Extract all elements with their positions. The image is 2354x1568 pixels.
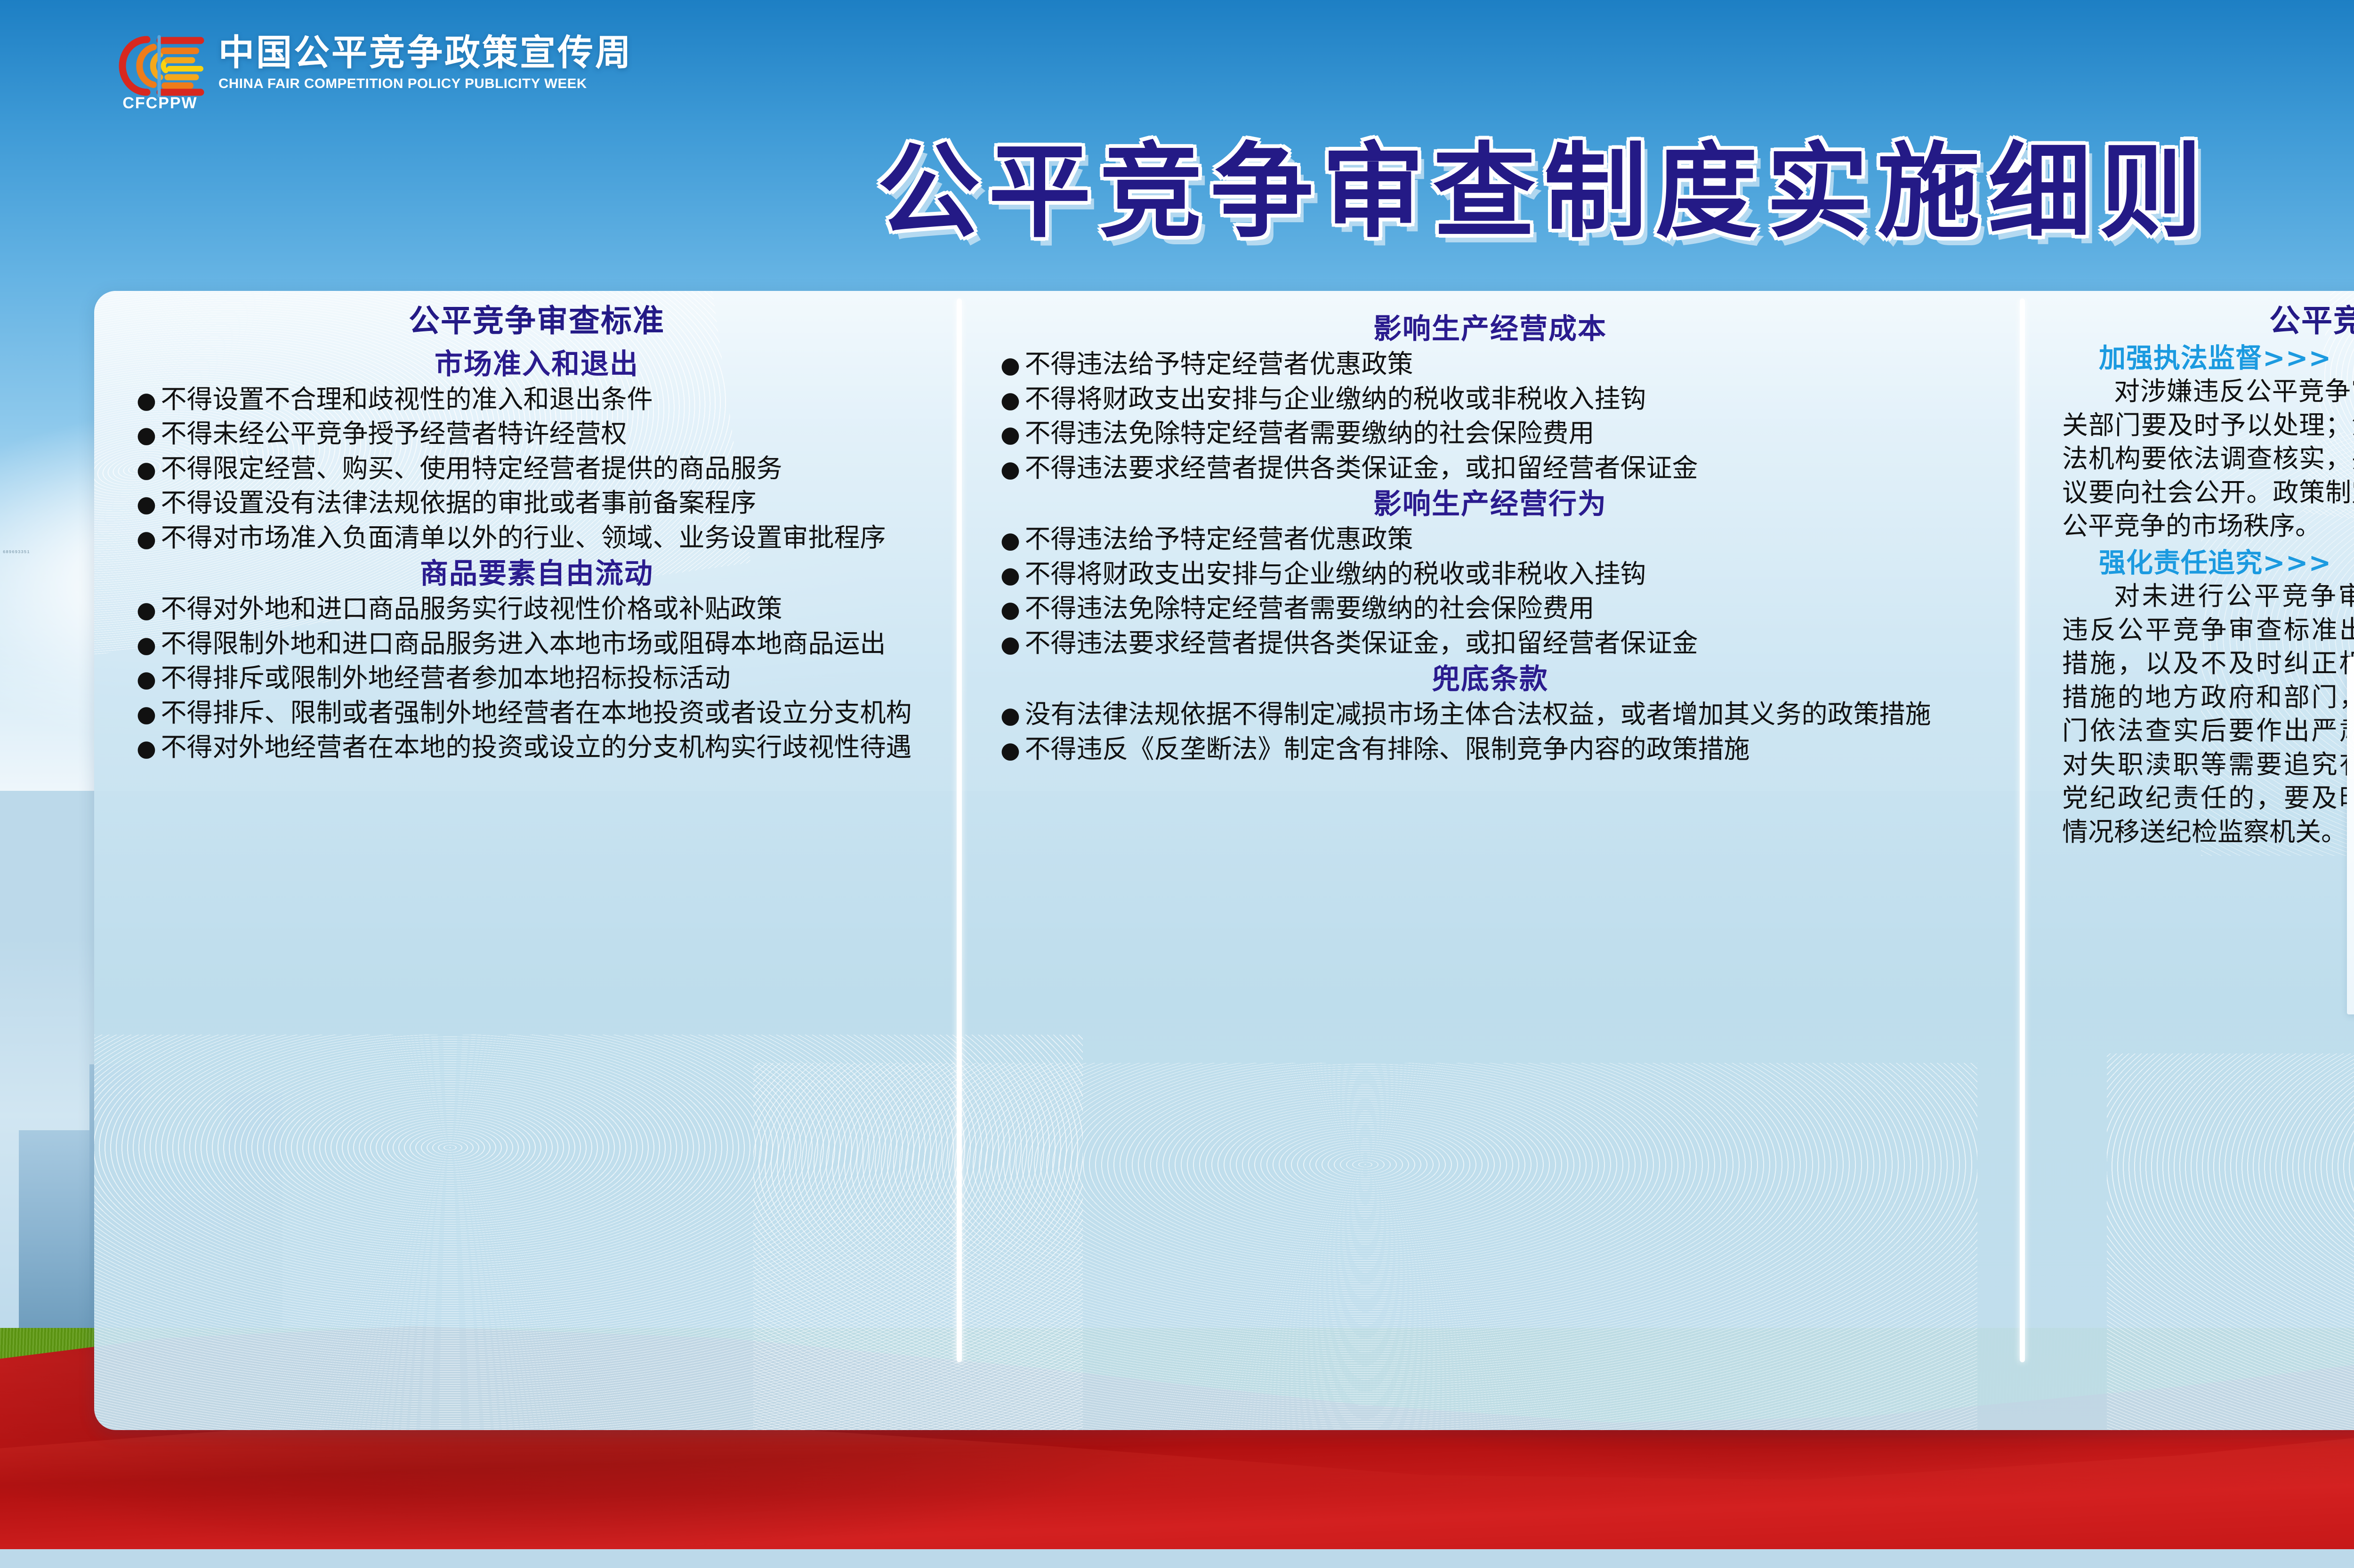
bullet-list-market-entry: 不得设置不合理和歧视性的准入和退出条件 不得未经公平竞争授予经营者特许经营权 不… bbox=[137, 383, 937, 555]
list-item: 不得对市场准入负面清单以外的行业、领域、业务设置审批程序 bbox=[137, 521, 937, 555]
logo-abbreviation: CFCPPW bbox=[113, 94, 207, 113]
list-item: 不得排斥、限制或者强制外地经营者在本地投资或者设立分支机构 bbox=[137, 696, 937, 730]
paragraph-accountability: 对未进行公平竞争审查或者违反公平竞争审查标准出台政策措施，以及不及时纠正相关政策… bbox=[2062, 579, 2354, 849]
section-heading-market-entry: 市场准入和退出 bbox=[137, 349, 937, 380]
list-item: 不得设置没有法律法规依据的审批或者事前备案程序 bbox=[137, 486, 937, 520]
column-divider bbox=[957, 298, 962, 1362]
page-title: 公平竞争审查制度实施细则 bbox=[0, 141, 2354, 244]
brand-lockup: CFCPPW 中国公平竞争政策宣传周 CHINA FAIR COMPETITIO… bbox=[113, 33, 633, 118]
wave-texture bbox=[753, 1063, 1977, 1430]
list-item: 不得违法免除特定经营者需要缴纳的社会保险费用 bbox=[1000, 592, 1980, 626]
column-divider bbox=[2020, 298, 2025, 1362]
section-heading-production-behaviour: 影响生产经营行为 bbox=[1000, 489, 1980, 520]
column-safeguards: 公平竞争审查制度实施的保障措施 加强执法监督>>> 对涉嫌违反公平竞争审查标准的… bbox=[2062, 291, 2354, 851]
section-heading-production-cost: 影响生产经营成本 bbox=[1000, 314, 1980, 345]
micro-code-text: 689693351 bbox=[3, 550, 30, 555]
subhead-accountability: 强化责任追究>>> bbox=[2099, 548, 2354, 579]
column-title-left: 公平竞争审查标准 bbox=[137, 304, 937, 338]
column-review-standards: 公平竞争审查标准 市场准入和退出 不得设置不合理和歧视性的准入和退出条件 不得未… bbox=[137, 291, 937, 765]
building bbox=[19, 1130, 89, 1328]
poster-header: CFCPPW 中国公平竞争政策宣传周 CHINA FAIR COMPETITIO… bbox=[0, 0, 2354, 264]
column-cost-behaviour: 影响生产经营成本 不得违法给予特定经营者优惠政策 不得将财政支出安排与企业缴纳的… bbox=[1000, 291, 1980, 767]
bullet-list-production-cost: 不得违法给予特定经营者优惠政策 不得将财政支出安排与企业缴纳的税收或非税收入挂钩… bbox=[1000, 347, 1980, 485]
list-item: 不得未经公平竞争授予经营者特许经营权 bbox=[137, 417, 937, 451]
paragraph-enforcement-supervision: 对涉嫌违反公平竞争审查标准的政策措施，任何单位和个人有权举报，有关部门要及时予以… bbox=[2062, 375, 2354, 543]
wave-texture bbox=[2107, 1053, 2354, 1430]
cfcppw-arc-logo-icon: CFCPPW bbox=[113, 33, 207, 118]
content-panel: 公平竞争审查标准 市场准入和退出 不得设置不合理和歧视性的准入和退出条件 不得未… bbox=[94, 291, 2354, 1430]
subhead-enforcement-supervision: 加强执法监督>>> bbox=[2099, 343, 2354, 374]
brand-name-cn: 中国公平竞争政策宣传周 bbox=[218, 35, 633, 71]
brand-text: 中国公平竞争政策宣传周 CHINA FAIR COMPETITION POLIC… bbox=[218, 33, 633, 92]
list-item: 不得将财政支出安排与企业缴纳的税收或非税收入挂钩 bbox=[1000, 557, 1980, 591]
list-item: 不得违法给予特定经营者优惠政策 bbox=[1000, 347, 1980, 381]
section-heading-catchall: 兜底条款 bbox=[1000, 664, 1980, 695]
list-item: 不得违法要求经营者提供各类保证金，或扣留经营者保证金 bbox=[1000, 451, 1980, 485]
list-item: 不得违法给予特定经营者优惠政策 bbox=[1000, 523, 1980, 556]
list-item: 不得违反《反垄断法》制定含有排除、限制竞争内容的政策措施 bbox=[1000, 732, 1980, 766]
list-item: 不得对外地经营者在本地的投资或设立的分支机构实行歧视性待遇 bbox=[137, 731, 937, 764]
list-item: 不得限制外地和进口商品服务进入本地市场或阻碍本地商品运出 bbox=[137, 627, 937, 661]
list-item: 没有法律法规依据不得制定减损市场主体合法权益，或者增加其义务的政策措施 bbox=[1000, 698, 1980, 732]
bullet-list-catchall: 没有法律法规依据不得制定减损市场主体合法权益，或者增加其义务的政策措施 不得违反… bbox=[1000, 698, 1980, 766]
reporting-flowchart: 政策制定机关涉嫌未进行公平竞争审查或者违反审查标准出台政策措施的，任何单位和个人… bbox=[2347, 657, 2354, 1014]
list-item: 不得限定经营、购买、使用特定经营者提供的商品服务 bbox=[137, 452, 937, 486]
section-heading-free-flow: 商品要素自由流动 bbox=[137, 558, 937, 589]
list-item: 不得违法要求经营者提供各类保证金，或扣留经营者保证金 bbox=[1000, 627, 1980, 660]
bullet-list-production-behaviour: 不得违法给予特定经营者优惠政策 不得将财政支出安排与企业缴纳的税收或非税收入挂钩… bbox=[1000, 523, 1980, 660]
list-item: 不得设置不合理和歧视性的准入和退出条件 bbox=[137, 383, 937, 417]
list-item: 不得排斥或限制外地经营者参加本地招标投标活动 bbox=[137, 661, 937, 695]
list-item: 不得将财政支出安排与企业缴纳的税收或非税收入挂钩 bbox=[1000, 382, 1980, 416]
column-title-right: 公平竞争审查制度实施的保障措施 bbox=[2062, 304, 2354, 338]
wave-texture bbox=[94, 1035, 1083, 1430]
list-item: 不得违法免除特定经营者需要缴纳的社会保险费用 bbox=[1000, 417, 1980, 450]
brand-name-en: CHINA FAIR COMPETITION POLICY PUBLICITY … bbox=[218, 76, 641, 92]
list-item: 不得对外地和进口商品服务实行歧视性价格或补贴政策 bbox=[137, 592, 937, 626]
bullet-list-free-flow: 不得对外地和进口商品服务实行歧视性价格或补贴政策 不得限制外地和进口商品服务进入… bbox=[137, 592, 937, 764]
